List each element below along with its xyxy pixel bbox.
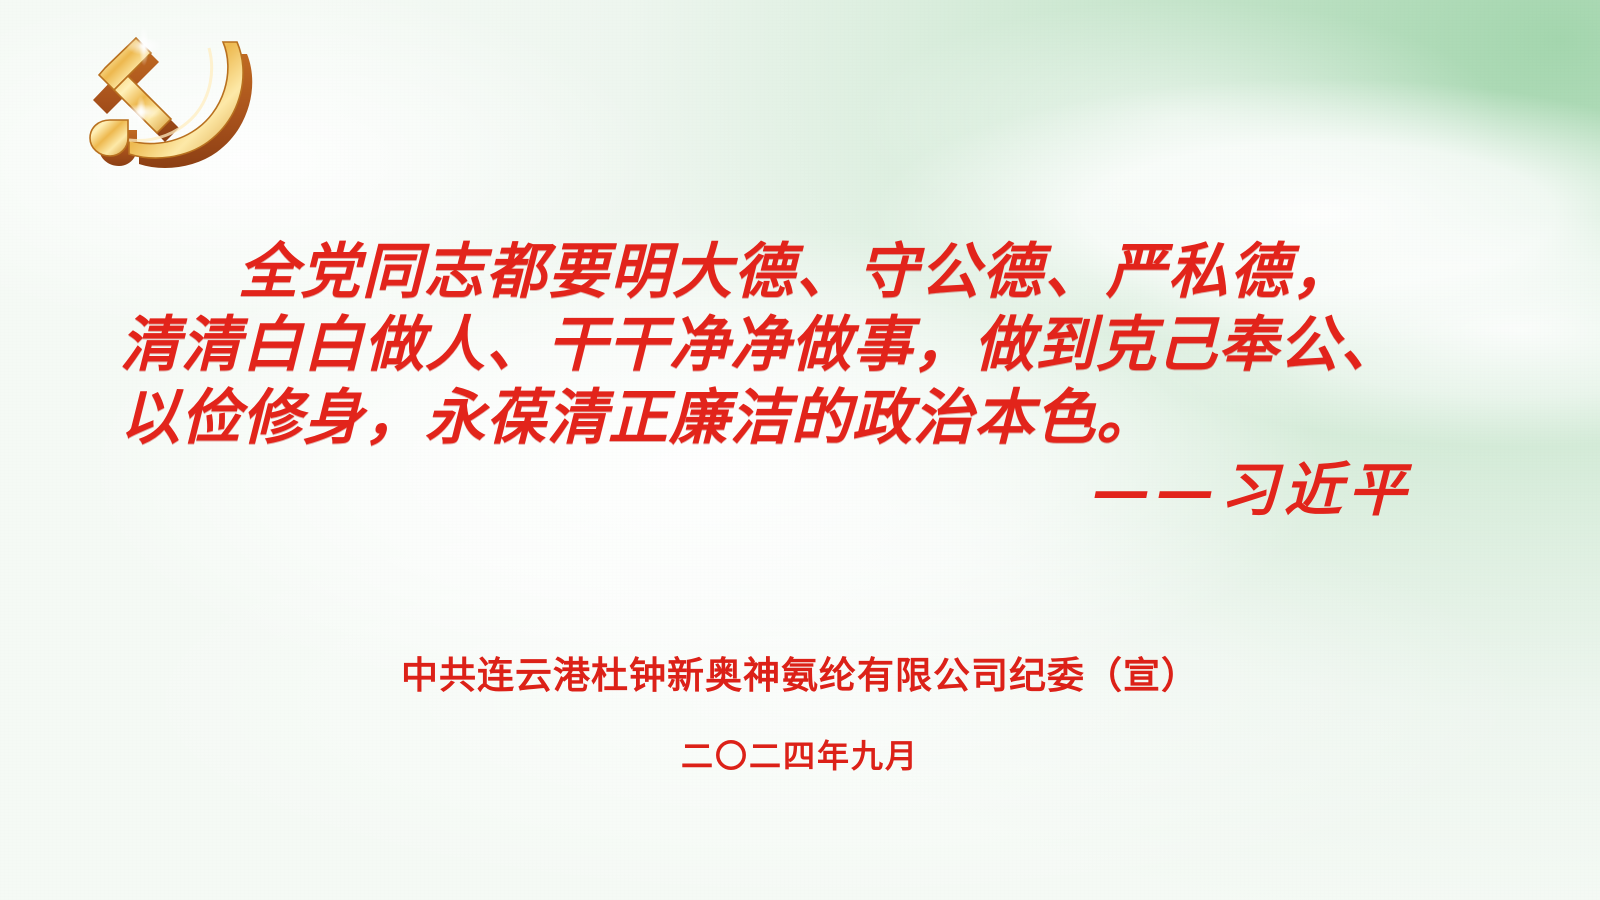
issue-date: 二〇二四年九月 <box>0 734 1600 778</box>
quote-line-2: 清清白白做人、干干净净做事，做到克己奉公、 <box>120 309 1480 382</box>
issuing-organization: 中共连云港杜钟新奥神氨纶有限公司纪委（宣） <box>0 650 1600 702</box>
quote-attribution: ——习近平 <box>0 455 1600 525</box>
quote-line-1: 全党同志都要明大德、守公德、严私德， <box>120 236 1480 309</box>
poster-footer: 中共连云港杜钟新奥神氨纶有限公司纪委（宣） 二〇二四年九月 <box>0 650 1600 778</box>
cpc-party-emblem-icon <box>78 20 264 180</box>
propaganda-poster: 全党同志都要明大德、守公德、严私德， 清清白白做人、干干净净做事，做到克己奉公、… <box>0 0 1600 900</box>
quote-block: 全党同志都要明大德、守公德、严私德， 清清白白做人、干干净净做事，做到克己奉公、… <box>0 236 1600 455</box>
quote-line-3: 以俭修身，永葆清正廉洁的政治本色。 <box>120 382 1480 455</box>
